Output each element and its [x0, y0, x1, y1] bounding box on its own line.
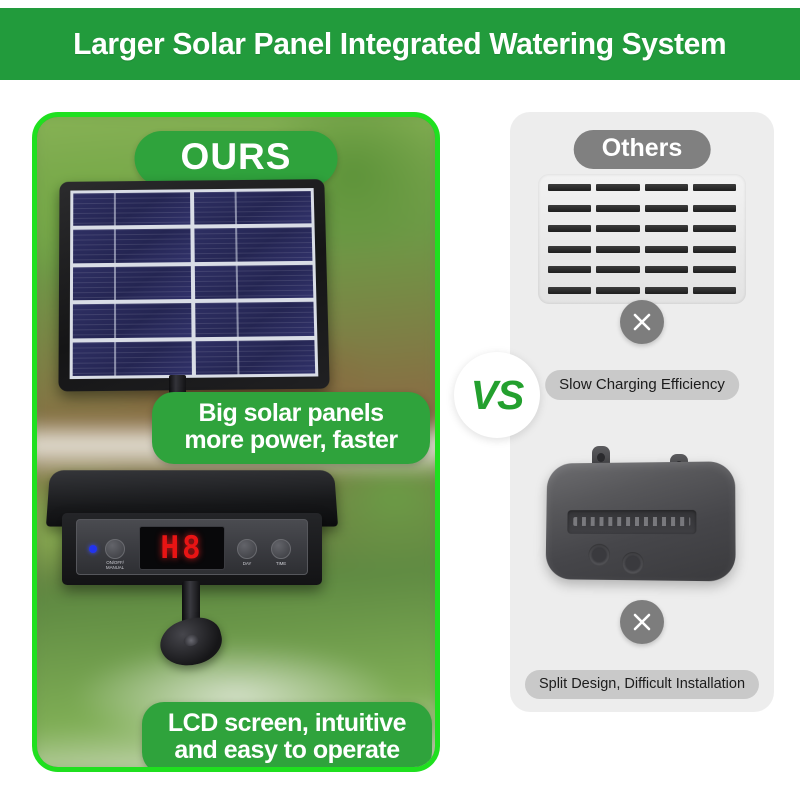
- others-solar-stripe: [548, 184, 591, 191]
- ours-panel: OURS Big solar panel: [32, 112, 440, 772]
- others-solar-stripe: [596, 246, 639, 253]
- power-led-indicator: [89, 545, 97, 553]
- solar-cell-grid: [70, 188, 319, 379]
- solar-cell: [194, 191, 312, 225]
- others-solar-stripe: [645, 287, 688, 294]
- others-solar-stripe: [596, 266, 639, 273]
- page-title: Larger Solar Panel Integrated Watering S…: [73, 26, 726, 62]
- others-solar-stripe: [693, 266, 736, 273]
- others-panel: Others: [510, 112, 774, 712]
- others-solar-cell-grid: [548, 184, 736, 294]
- solar-cell: [73, 266, 191, 301]
- day-button-label: DAY: [230, 562, 264, 567]
- solar-cell: [73, 303, 192, 338]
- solar-cell: [73, 341, 192, 376]
- others-solar-stripe: [596, 205, 639, 212]
- lcd-display-value: H8: [160, 530, 203, 566]
- x-mark-icon: [620, 600, 664, 644]
- caption-line-1: Big solar panels: [168, 400, 414, 427]
- on-off-manual-label: ON/OFF/ MANUAL: [98, 561, 132, 571]
- others-solar-stripe: [645, 205, 688, 212]
- others-solar-stripe: [548, 266, 591, 273]
- controller-faceplate: ON/OFF/ MANUAL H8 DAY TIME: [76, 519, 308, 575]
- caption-line-1: LCD screen, intuitive: [158, 710, 416, 737]
- ours-lcd-controller: ON/OFF/ MANUAL H8 DAY TIME: [42, 469, 342, 669]
- ours-caption-solar: Big solar panels more power, faster: [152, 392, 430, 464]
- others-solar-column: [548, 184, 591, 294]
- others-solar-stripe: [548, 287, 591, 294]
- solar-cell: [195, 302, 314, 337]
- ours-solar-panel: [59, 179, 327, 389]
- caption-line-2: more power, faster: [168, 427, 414, 454]
- device-port: [622, 552, 644, 574]
- others-caption-charging: Slow Charging Efficiency: [545, 370, 739, 400]
- others-solar-stripe: [548, 225, 591, 232]
- others-solar-stripe: [693, 246, 736, 253]
- solar-panel-frame: [58, 179, 329, 391]
- others-split-device: [544, 442, 740, 592]
- others-caption-installation: Split Design, Difficult Installation: [525, 670, 759, 699]
- others-solar-stripe: [693, 287, 736, 294]
- solar-cell: [196, 340, 316, 375]
- others-badge: Others: [574, 130, 711, 169]
- mounting-clamp: [155, 612, 226, 672]
- others-solar-stripe: [645, 266, 688, 273]
- solar-cell: [73, 192, 190, 226]
- solar-cell: [194, 228, 312, 262]
- header-banner: Larger Solar Panel Integrated Watering S…: [0, 8, 800, 80]
- on-off-manual-button[interactable]: [105, 539, 125, 559]
- others-solar-stripe: [548, 246, 591, 253]
- others-solar-stripe: [645, 184, 688, 191]
- others-solar-stripe: [693, 225, 736, 232]
- caption-line-2: and easy to operate: [158, 737, 416, 764]
- device-body: [545, 461, 735, 581]
- x-mark-icon: [620, 300, 664, 344]
- others-solar-stripe: [596, 225, 639, 232]
- device-port: [588, 544, 610, 566]
- others-solar-stripe: [693, 205, 736, 212]
- others-solar-stripe: [596, 184, 639, 191]
- others-solar-panel: [538, 174, 746, 304]
- others-solar-stripe: [596, 287, 639, 294]
- others-solar-stripe: [645, 246, 688, 253]
- solar-cell: [73, 229, 191, 263]
- others-solar-column: [645, 184, 688, 294]
- solar-cell: [195, 265, 314, 300]
- time-button[interactable]: [271, 539, 291, 559]
- ours-caption-lcd: LCD screen, intuitive and easy to operat…: [142, 702, 432, 772]
- others-solar-stripe: [693, 184, 736, 191]
- ours-badge: OURS: [135, 131, 338, 186]
- lcd-display: H8: [139, 526, 225, 570]
- device-label-strip: [567, 510, 696, 534]
- vs-label: VS: [471, 372, 524, 419]
- others-solar-column: [693, 184, 736, 294]
- others-solar-stripe: [645, 225, 688, 232]
- day-button[interactable]: [237, 539, 257, 559]
- vs-badge: VS: [454, 352, 540, 438]
- others-solar-column: [596, 184, 639, 294]
- time-button-label: TIME: [264, 562, 298, 567]
- others-solar-stripe: [548, 205, 591, 212]
- infographic-page: Larger Solar Panel Integrated Watering S…: [0, 0, 800, 800]
